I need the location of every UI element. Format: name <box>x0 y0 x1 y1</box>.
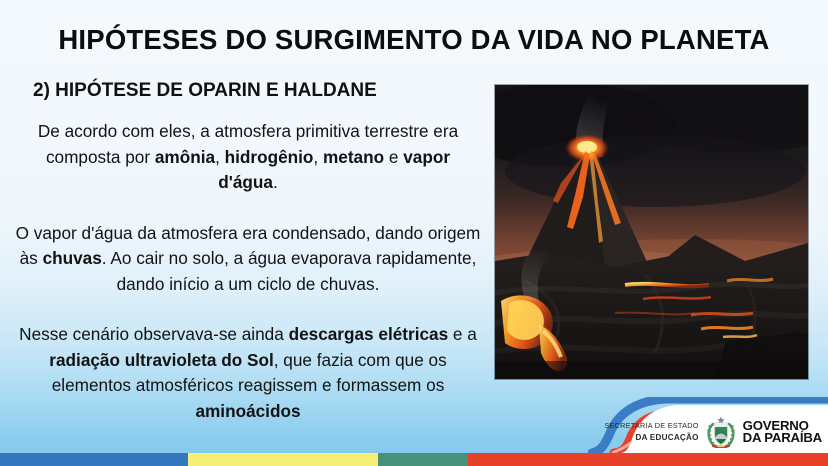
footer-color-bar <box>0 453 828 466</box>
body-text-block: De acordo com eles, a atmosfera primitiv… <box>14 119 482 424</box>
color-bar-segment-yellow <box>188 453 378 466</box>
paragraph-3: Nesse cenário observava-se ainda descarg… <box>14 322 482 424</box>
governo-line-2: DA PARAÍBA <box>743 432 822 445</box>
slide-canvas: HIPÓTESES DO SURGIMENTO DA VIDA NO PLANE… <box>0 0 828 466</box>
paragraph-2: O vapor d'água da atmosfera era condensa… <box>14 221 482 298</box>
secretaria-wordmark: SECRETARIA DE ESTADO DA EDUCAÇÃO <box>604 421 698 443</box>
secretaria-line-2: DA EDUCAÇÃO <box>604 433 698 443</box>
volcano-image <box>495 85 808 379</box>
page-title: HIPÓTESES DO SURGIMENTO DA VIDA NO PLANE… <box>0 24 828 56</box>
color-bar-segment-blue <box>0 453 188 466</box>
governo-wordmark: GOVERNO DA PARAÍBA <box>743 420 822 445</box>
section-heading: 2) HIPÓTESE DE OPARIN E HALDANE <box>33 80 377 102</box>
color-bar-segment-red <box>468 453 828 466</box>
color-bar-segment-green <box>378 453 468 466</box>
brasao-paraiba-icon <box>706 416 736 448</box>
footer-logo-group: SECRETARIA DE ESTADO DA EDUCAÇÃO <box>604 415 822 449</box>
paragraph-1: De acordo com eles, a atmosfera primitiv… <box>14 119 482 196</box>
secretaria-line-1: SECRETARIA DE ESTADO <box>604 421 698 431</box>
